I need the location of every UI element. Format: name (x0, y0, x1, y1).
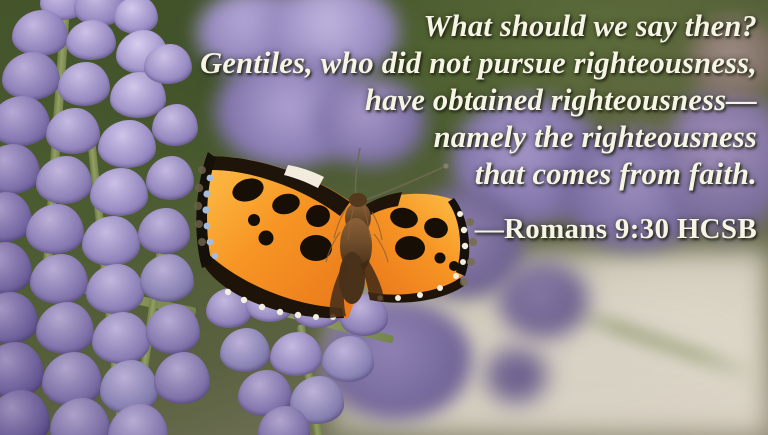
blurred-stem (557, 300, 761, 383)
background-lavender-blur (498, 262, 588, 338)
verse-line: What should we say then? (57, 8, 757, 45)
verse-line: have obtained righteousness— (57, 82, 757, 119)
verse-line: namely the righteousness (57, 119, 757, 156)
verse-text: What should we say then? Gentiles, who d… (57, 8, 757, 193)
background-lavender-blur (486, 348, 546, 402)
verse-line: Gentiles, who did not pursue righteousne… (57, 45, 757, 82)
verse-line: that comes from faith. (57, 156, 757, 193)
scripture-image: What should we say then? Gentiles, who d… (0, 0, 768, 435)
verse-citation: —Romans 9:30 HCSB (57, 212, 757, 246)
